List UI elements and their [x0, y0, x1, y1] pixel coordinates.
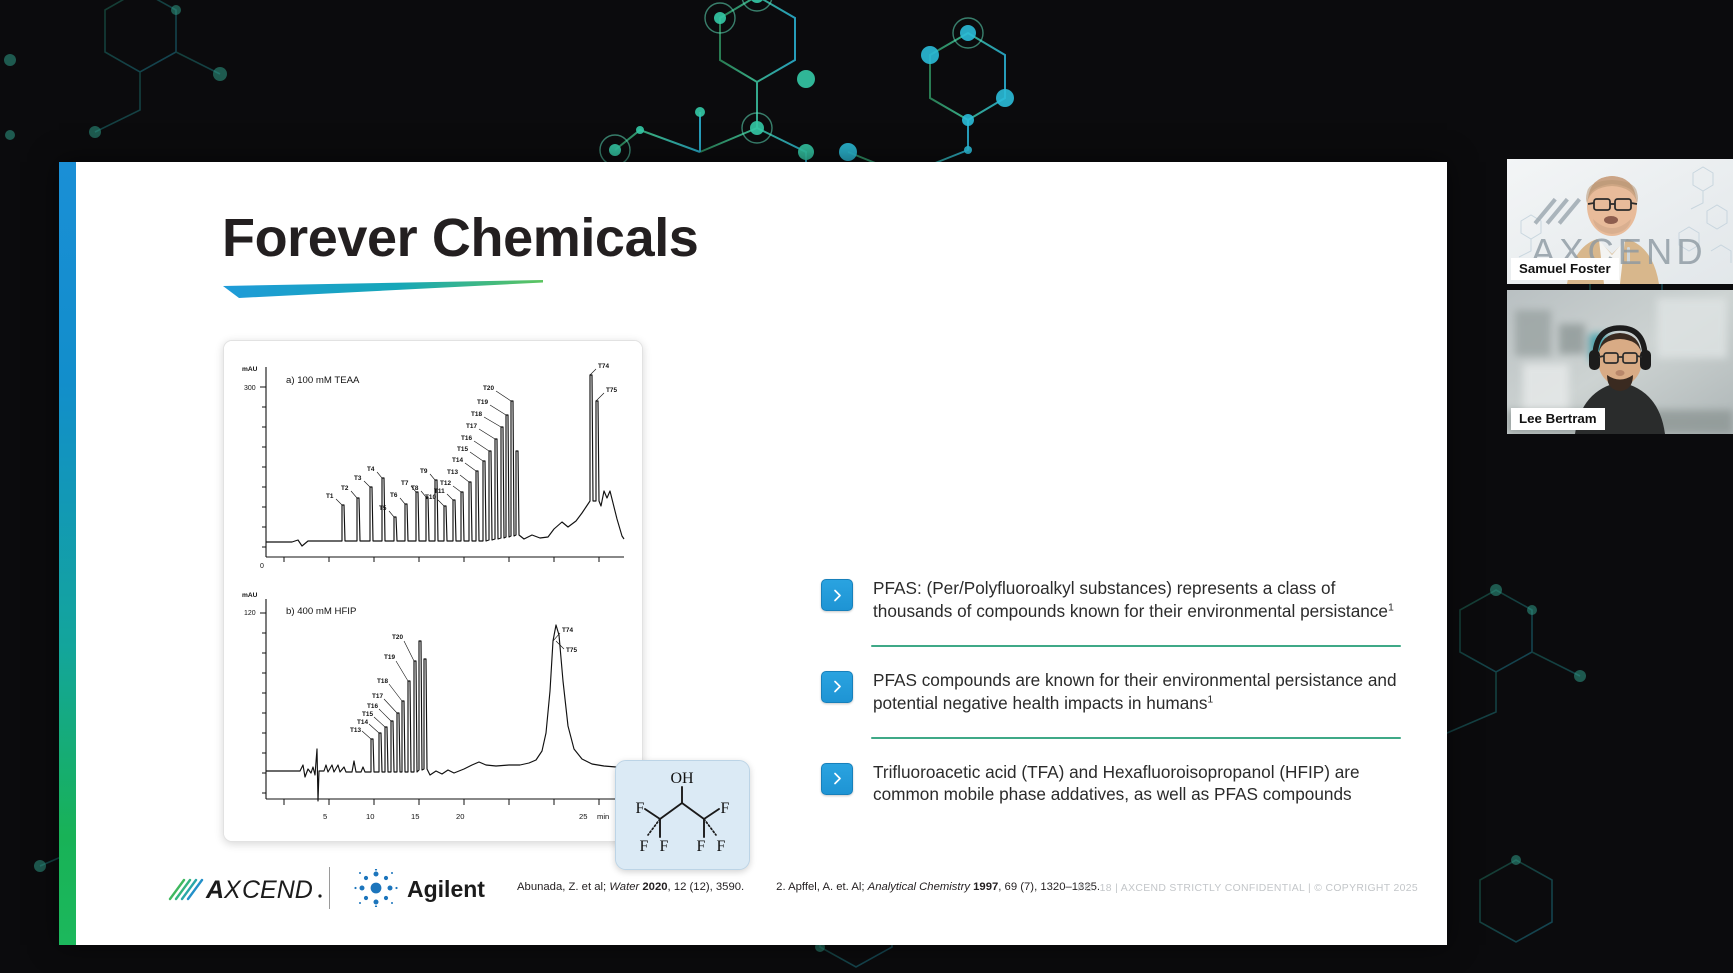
figure-y-tick-b: 120	[244, 610, 256, 617]
svg-text:CEND: CEND	[242, 876, 313, 904]
svg-text:T7: T7	[401, 480, 409, 487]
hfip-f-label: F	[697, 838, 706, 855]
svg-text:T74: T74	[562, 627, 573, 634]
agilent-logo: Agilent	[353, 869, 503, 907]
svg-text:T74: T74	[598, 363, 609, 370]
svg-text:T15: T15	[457, 446, 468, 453]
hfip-f-label: F	[660, 838, 669, 855]
list-item: PFAS compounds are known for their envir…	[821, 669, 1401, 715]
video-tile-participant-1[interactable]: AXCEND Samuel Foster	[1507, 159, 1733, 284]
video-tile-participant-2[interactable]: Lee Bertram	[1507, 290, 1733, 434]
figure-y-zero-a: 0	[260, 563, 264, 570]
list-item: Trifluoroacetic acid (TFA) and Hexafluor…	[821, 761, 1401, 807]
svg-text:T18: T18	[377, 678, 388, 685]
x-tick-20: 20	[456, 812, 464, 821]
svg-text:T5: T5	[379, 505, 387, 512]
chromatogram-figure: mAU 300 0 a) 100 mM TEAA	[223, 340, 643, 842]
svg-text:T1: T1	[326, 493, 334, 500]
svg-text:T10: T10	[425, 494, 436, 501]
logo-divider	[329, 867, 330, 909]
presentation-slide: Forever Chemicals	[59, 162, 1447, 945]
slide-accent-bar	[59, 162, 76, 945]
svg-text:T20: T20	[392, 634, 403, 641]
panel-a-label: a) 100 mM TEAA	[286, 375, 360, 386]
participant-name-badge: Samuel Foster	[1511, 258, 1619, 280]
bullet-list: PFAS: (Per/Polyfluoroalkyl substances) r…	[821, 577, 1401, 806]
svg-text:T14: T14	[357, 719, 368, 726]
confidentiality-notice: PG. 18 | AXCEND STRICTLY CONFIDENTIAL | …	[1077, 883, 1418, 894]
footnote-marker: 1	[1207, 693, 1213, 705]
svg-text:T18: T18	[471, 411, 482, 418]
svg-text:X: X	[223, 876, 242, 904]
x-tick-25: 25	[579, 812, 587, 821]
footnote-marker: 1	[1388, 601, 1394, 613]
slide-footer: A X CEND	[76, 867, 1447, 919]
figure-y-unit-b: mAU	[242, 592, 258, 599]
svg-text:Agilent: Agilent	[407, 876, 485, 902]
hfip-f-label: F	[640, 838, 649, 855]
svg-text:T20: T20	[483, 385, 494, 392]
participant-name-badge: Lee Bertram	[1511, 408, 1605, 430]
figure-y-unit-a: mAU	[242, 366, 258, 373]
hfip-molecule-callout: OH F F F F F F	[615, 760, 750, 870]
bullet-text: PFAS: (Per/Polyfluoroalkyl substances) r…	[873, 577, 1401, 623]
page-title: Forever Chemicals	[222, 210, 698, 267]
x-tick-15: 15	[411, 812, 419, 821]
svg-text:T16: T16	[461, 435, 472, 442]
hfip-f-label: F	[721, 800, 730, 817]
svg-text:T13: T13	[447, 469, 458, 476]
svg-text:T8: T8	[411, 485, 419, 492]
title-underline-swoosh	[223, 280, 543, 302]
hfip-f-label: F	[717, 838, 726, 855]
svg-text:T9: T9	[420, 468, 428, 475]
svg-text:T19: T19	[384, 654, 395, 661]
citations: Abunada, Z. et al; Water 2020, 12 (12), …	[517, 881, 1100, 893]
svg-text:T4: T4	[367, 466, 375, 473]
hfip-oh-label: OH	[670, 770, 694, 787]
svg-text:T75: T75	[566, 647, 577, 654]
list-item: PFAS: (Per/Polyfluoroalkyl substances) r…	[821, 577, 1401, 623]
bullet-divider	[871, 645, 1401, 647]
svg-text:T13: T13	[350, 727, 361, 734]
bullet-divider	[871, 737, 1401, 739]
chevron-right-icon	[821, 579, 853, 611]
svg-text:T16: T16	[367, 703, 378, 710]
svg-text:T6: T6	[390, 492, 398, 499]
svg-text:T11: T11	[434, 488, 445, 495]
figure-y-tick-a: 300	[244, 385, 256, 392]
x-tick-5: 5	[323, 812, 327, 821]
svg-text:T15: T15	[362, 711, 373, 718]
axcend-logo: A X CEND	[168, 871, 328, 905]
webinar-screen: Forever Chemicals	[0, 0, 1733, 973]
bullet-text: Trifluoroacetic acid (TFA) and Hexafluor…	[873, 761, 1401, 807]
svg-text:T3: T3	[354, 475, 362, 482]
panel-b-label: b) 400 mM HFIP	[286, 606, 356, 617]
svg-text:T19: T19	[477, 399, 488, 406]
svg-text:T17: T17	[372, 693, 383, 700]
chevron-right-icon	[821, 671, 853, 703]
x-tick-10: 10	[366, 812, 374, 821]
chevron-right-icon	[821, 763, 853, 795]
svg-text:T2: T2	[341, 485, 349, 492]
svg-text:T17: T17	[466, 423, 477, 430]
svg-text:T12: T12	[440, 480, 451, 487]
svg-text:T14: T14	[452, 457, 463, 464]
svg-text:A: A	[205, 876, 224, 904]
video-participant-panel: AXCEND Samuel Foster	[1507, 159, 1733, 434]
x-axis-unit: min	[597, 812, 609, 821]
hfip-f-label: F	[636, 800, 645, 817]
svg-text:T75: T75	[606, 387, 617, 394]
bullet-text: PFAS compounds are known for their envir…	[873, 669, 1401, 715]
